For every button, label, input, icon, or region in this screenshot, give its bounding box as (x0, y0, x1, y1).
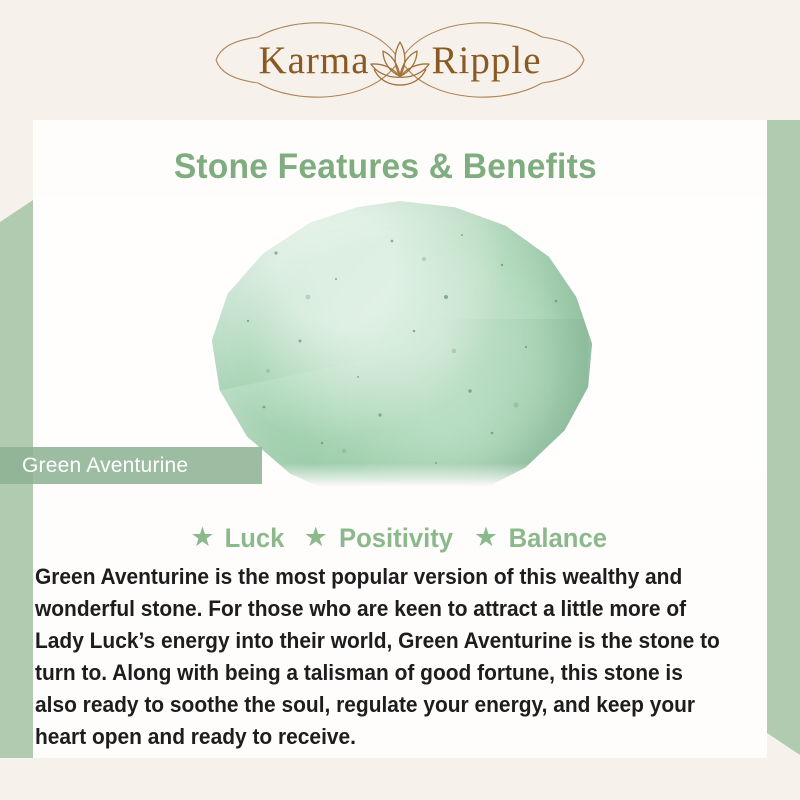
stone-description: Green Aventurine is the most popular ver… (35, 561, 729, 753)
stone-name: Green Aventurine (22, 454, 188, 478)
stone-photo (33, 197, 767, 487)
poster-root: Karma Ripple Stone Features & Benefits (0, 0, 800, 800)
stone-speckles (204, 201, 596, 487)
star-icon: ★ (474, 524, 498, 551)
bottom-strip (0, 758, 800, 800)
benefit-item-positivity: ★ Positivity (304, 523, 456, 554)
title-banner: Stone Features & Benefits (135, 137, 635, 197)
frame-band-left (0, 200, 33, 800)
benefit-item-luck: ★ Luck (190, 523, 285, 554)
brand-header: Karma Ripple (0, 0, 800, 120)
benefit-label: Positivity (339, 523, 453, 554)
benefit-label: Luck (224, 523, 284, 554)
brand-name-left: Karma (258, 38, 369, 83)
brand-logo: Karma Ripple (200, 15, 600, 105)
brand-wordmark: Karma Ripple (258, 38, 541, 83)
benefit-item-balance: ★ Balance (474, 523, 610, 554)
star-icon: ★ (304, 524, 328, 551)
stone-image (204, 201, 596, 487)
benefits-row: ★ Luck ★ Positivity ★ Balance (33, 518, 767, 558)
page-title: Stone Features & Benefits (173, 147, 596, 187)
star-icon: ★ (190, 524, 214, 551)
benefit-label: Balance (509, 523, 607, 554)
stone-name-ribbon: Green Aventurine (0, 447, 262, 484)
brand-name-right: Ripple (432, 38, 542, 83)
